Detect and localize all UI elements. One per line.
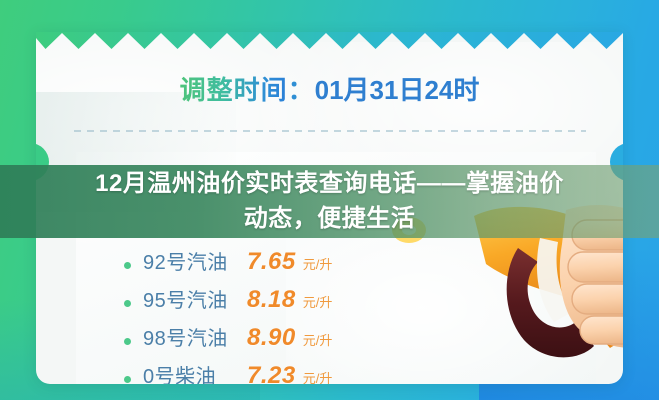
- fuel-price: 7.23: [247, 362, 296, 384]
- fuel-unit: 元/升: [303, 254, 333, 273]
- adjust-time-label: 调整时间: [180, 75, 288, 105]
- fuel-unit: 元/升: [303, 330, 333, 349]
- bullet-icon: [124, 300, 131, 307]
- fuel-unit: 元/升: [303, 368, 333, 384]
- fuel-name: 98号汽油: [143, 322, 247, 351]
- fuel-price-list: 92号汽油 7.65 元/升 95号汽油 8.18 元/升 98号汽油 8.90…: [124, 246, 424, 384]
- fuel-name: 92号汽油: [143, 246, 247, 275]
- receipt-sawtooth-edge-icon: [36, 32, 623, 49]
- poster-canvas: 调整时间：01月31日24时: [0, 0, 659, 400]
- fuel-name: 0号柴油: [143, 360, 247, 384]
- list-item: 95号汽油 8.18 元/升: [124, 284, 424, 322]
- fuel-name: 95号汽油: [143, 284, 247, 313]
- fuel-price: 7.65: [247, 248, 296, 276]
- bullet-icon: [124, 338, 131, 345]
- page-title-line2: 动态，便捷生活: [0, 201, 659, 236]
- adjust-time-headline: 调整时间：01月31日24时: [36, 70, 623, 107]
- page-title: 12月温州油价实时表查询电话——掌握油价 动态，便捷生活: [0, 166, 659, 236]
- adjust-time-date: 01月31日24时: [315, 75, 480, 105]
- fuel-unit: 元/升: [303, 292, 333, 311]
- fuel-price: 8.18: [247, 286, 296, 314]
- receipt-dashed-separator: [74, 130, 586, 132]
- list-item: 92号汽油 7.65 元/升: [124, 246, 424, 284]
- list-item: 0号柴油 7.23 元/升: [124, 360, 424, 384]
- bullet-icon: [124, 376, 131, 383]
- adjust-time-colon: ：: [288, 75, 315, 105]
- bullet-icon: [124, 262, 131, 269]
- page-title-line1: 12月温州油价实时表查询电话——掌握油价: [95, 170, 564, 197]
- list-item: 98号汽油 8.90 元/升: [124, 322, 424, 360]
- fuel-price: 8.90: [247, 324, 296, 352]
